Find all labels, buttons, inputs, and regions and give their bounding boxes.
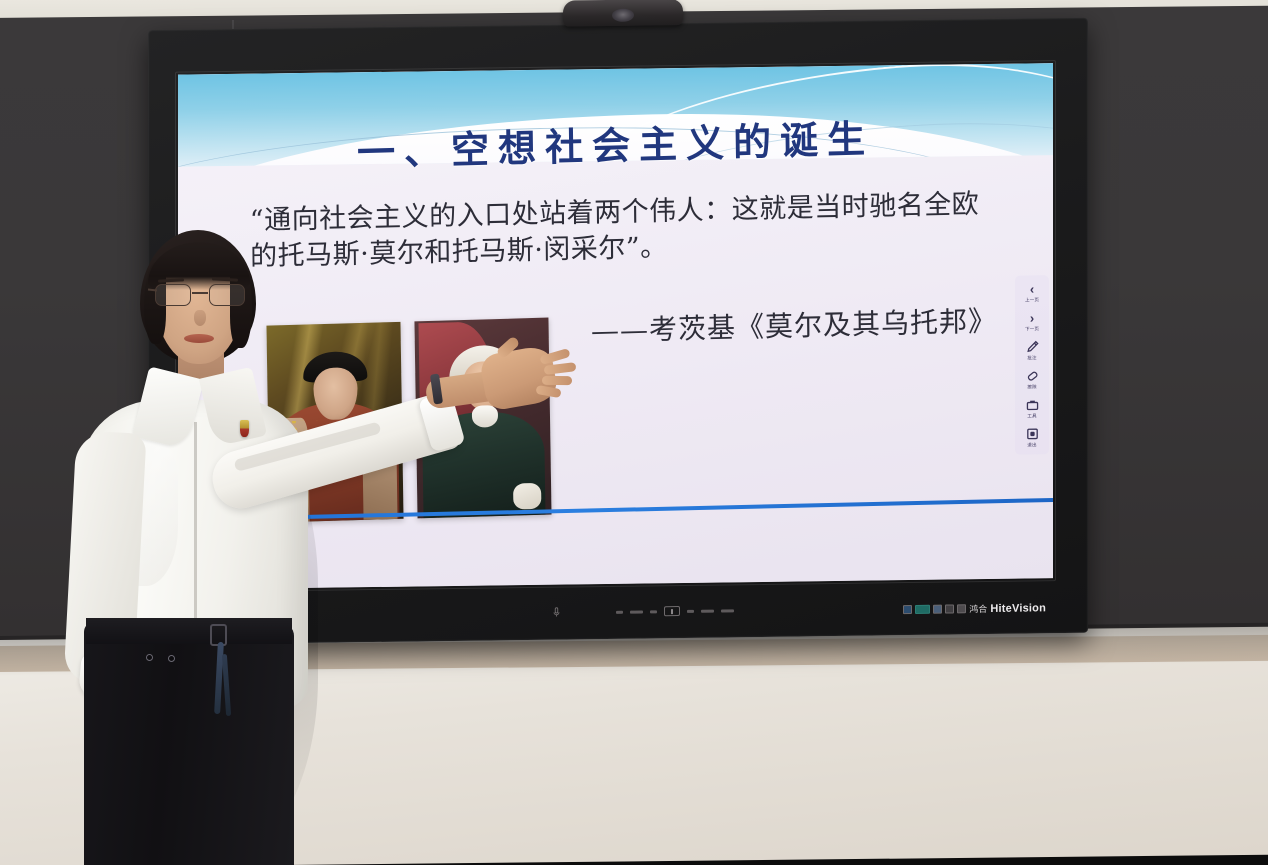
- certification-badge-4: [945, 604, 954, 613]
- brand-mark-chinese: 鸿合: [969, 602, 987, 615]
- chevron-right-icon: ›: [1025, 310, 1040, 325]
- slide-attribution: ——考茨基《莫尔及其乌托邦》: [591, 299, 997, 349]
- bezel-brand-area: 鸿合 HiteVision: [903, 601, 1046, 616]
- bezel-button-menu[interactable]: [630, 610, 643, 613]
- toolbar-label-erase: 擦除: [1027, 384, 1036, 390]
- eraser-icon: [1025, 368, 1040, 383]
- toolbar-label-next-page: 下一页: [1025, 326, 1039, 332]
- microphone-icon: [553, 607, 560, 618]
- exit-icon: [1025, 426, 1040, 441]
- toolbar-item-next-page[interactable]: › 下一页: [1017, 310, 1047, 332]
- toolbar-item-previous-page[interactable]: ‹ 上一页: [1017, 281, 1047, 303]
- presentation-slide[interactable]: 一、空想社会主义的诞生 “通向社会主义的入口处站着两个伟人：这就是当时驰名全欧的…: [178, 63, 1053, 589]
- camera-lens-icon: [612, 9, 634, 22]
- chevron-left-icon: ‹: [1025, 281, 1040, 296]
- portrait-thomas-muntzer: [414, 318, 551, 519]
- toolbar-item-exit[interactable]: 退出: [1017, 426, 1047, 448]
- display-screen[interactable]: 一、空想社会主义的诞生 “通向社会主义的入口处站着两个伟人：这就是当时驰名全欧的…: [178, 63, 1053, 589]
- toolbar-label-exit: 退出: [1027, 442, 1036, 448]
- toolbar-label-previous-page: 上一页: [1025, 297, 1039, 303]
- portrait-thomas-more: [266, 322, 403, 523]
- interactive-flat-panel-display[interactable]: 一、空想社会主义的诞生 “通向社会主义的入口处站着两个伟人：这就是当时驰名全欧的…: [148, 18, 1088, 645]
- screen-annotation-toolbar[interactable]: ‹ 上一页 › 下一页: [1015, 275, 1049, 454]
- classroom-scene: 一、空想社会主义的诞生 “通向社会主义的入口处站着两个伟人：这就是当时驰名全欧的…: [0, 0, 1268, 865]
- pen-icon: [1025, 339, 1040, 354]
- toolbar-label-tools: 工具: [1027, 413, 1036, 419]
- certification-badge-2: [915, 605, 930, 614]
- bezel-button-volume-up[interactable]: [687, 609, 694, 612]
- bezel-button-volume-down[interactable]: [650, 610, 657, 613]
- bezel-button-row[interactable]: [616, 605, 734, 617]
- bezel-button-back[interactable]: [721, 609, 734, 612]
- toolbar-item-tools[interactable]: 工具: [1017, 397, 1047, 419]
- toolbar-item-annotate[interactable]: 批注: [1017, 339, 1047, 361]
- toolbar-label-annotate: 批注: [1027, 355, 1036, 361]
- toolbar-item-erase[interactable]: 擦除: [1017, 368, 1047, 390]
- power-button-icon[interactable]: [664, 606, 680, 616]
- certification-badge-1: [903, 605, 912, 614]
- toolbox-icon: [1025, 397, 1040, 412]
- certification-badge-3: [933, 605, 942, 614]
- slide-portrait-group: [266, 318, 551, 523]
- webcam-bar: [563, 0, 683, 27]
- slide-quote-text: “通向社会主义的入口处站着两个伟人：这就是当时驰名全欧的托马斯·莫尔和托马斯·闵…: [250, 186, 1002, 275]
- bezel-button-source[interactable]: [616, 610, 623, 613]
- certification-badge-5: [957, 604, 966, 613]
- portrait-cuff: [513, 483, 541, 510]
- portrait-face: [463, 361, 504, 410]
- brand-name: HiteVision: [990, 602, 1046, 615]
- bezel-button-home[interactable]: [701, 609, 714, 612]
